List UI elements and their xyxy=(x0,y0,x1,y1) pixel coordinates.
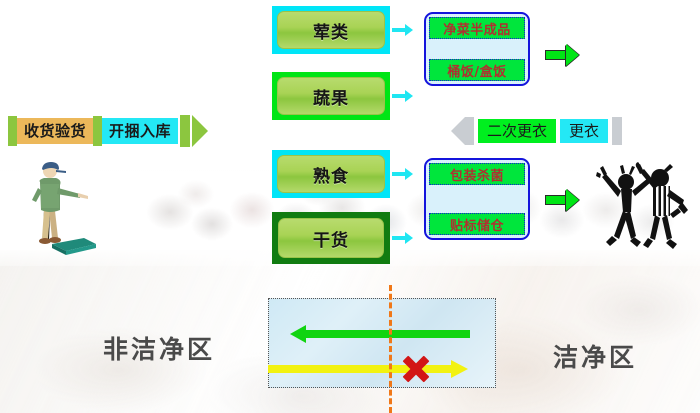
chevron-left-icon-tail xyxy=(612,117,622,145)
category-box-cooked-food[interactable]: 熟食 xyxy=(272,150,390,198)
arrow-right-small-icon xyxy=(392,24,414,36)
chevron-right-icon xyxy=(8,116,17,146)
chevron-left-icon-body xyxy=(465,117,474,145)
gowning-flow: 二次更衣 更衣 xyxy=(451,117,622,145)
zone-label-non-clean: 非洁净区 xyxy=(103,330,215,366)
zone-divider-line xyxy=(389,285,392,413)
process-group-fresh-cut-and-meals[interactable]: 净菜半成品 桶饭/盒饭 xyxy=(424,12,530,86)
process-step[interactable]: 贴标储仓 xyxy=(429,213,525,235)
category-box-dry-goods[interactable]: 干货 xyxy=(272,212,390,264)
category-label: 熟食 xyxy=(277,155,385,193)
category-box-produce[interactable]: 蔬果 xyxy=(272,72,390,120)
process-step[interactable]: 桶饭/盒饭 xyxy=(429,59,525,81)
category-label: 蔬果 xyxy=(277,77,385,115)
step-secondary-gowning[interactable]: 二次更衣 xyxy=(478,119,556,143)
process-step[interactable]: 净菜半成品 xyxy=(429,17,525,39)
diagram-canvas: 收货验货 开捆入库 xyxy=(0,0,700,413)
zone-label-clean: 洁净区 xyxy=(553,338,637,374)
process-step[interactable]: 包装杀菌 xyxy=(429,163,525,185)
step-receiving-inspection[interactable]: 收货验货 xyxy=(17,118,93,144)
category-label: 干货 xyxy=(278,218,384,258)
step-unpack-storage[interactable]: 开捆入库 xyxy=(102,118,178,144)
worker-pushing-pallet-icon xyxy=(22,158,102,258)
inbound-flow: 收货验货 开捆入库 xyxy=(8,115,208,147)
chevron-right-icon xyxy=(192,115,208,147)
arrow-right-block-icon xyxy=(545,44,581,66)
cross-mark-icon xyxy=(399,351,433,385)
category-label: 荤类 xyxy=(277,11,385,49)
arrow-left-icon xyxy=(290,325,470,343)
chevron-right-icon xyxy=(93,116,102,146)
step-gowning[interactable]: 更衣 xyxy=(560,119,608,143)
arrow-right-small-icon xyxy=(392,168,414,180)
chevron-left-icon xyxy=(451,117,465,145)
chevron-right-icon-body xyxy=(180,115,190,147)
arrow-right-small-icon xyxy=(392,90,414,102)
arrow-right-small-icon xyxy=(392,232,414,244)
category-box-meat[interactable]: 荤类 xyxy=(272,6,390,54)
dancing-figures-icon xyxy=(596,152,692,256)
arrow-right-icon xyxy=(268,360,468,378)
arrow-right-block-icon xyxy=(545,189,581,211)
process-group-packaging-and-labeling[interactable]: 包装杀菌 贴标储仓 xyxy=(424,158,530,240)
